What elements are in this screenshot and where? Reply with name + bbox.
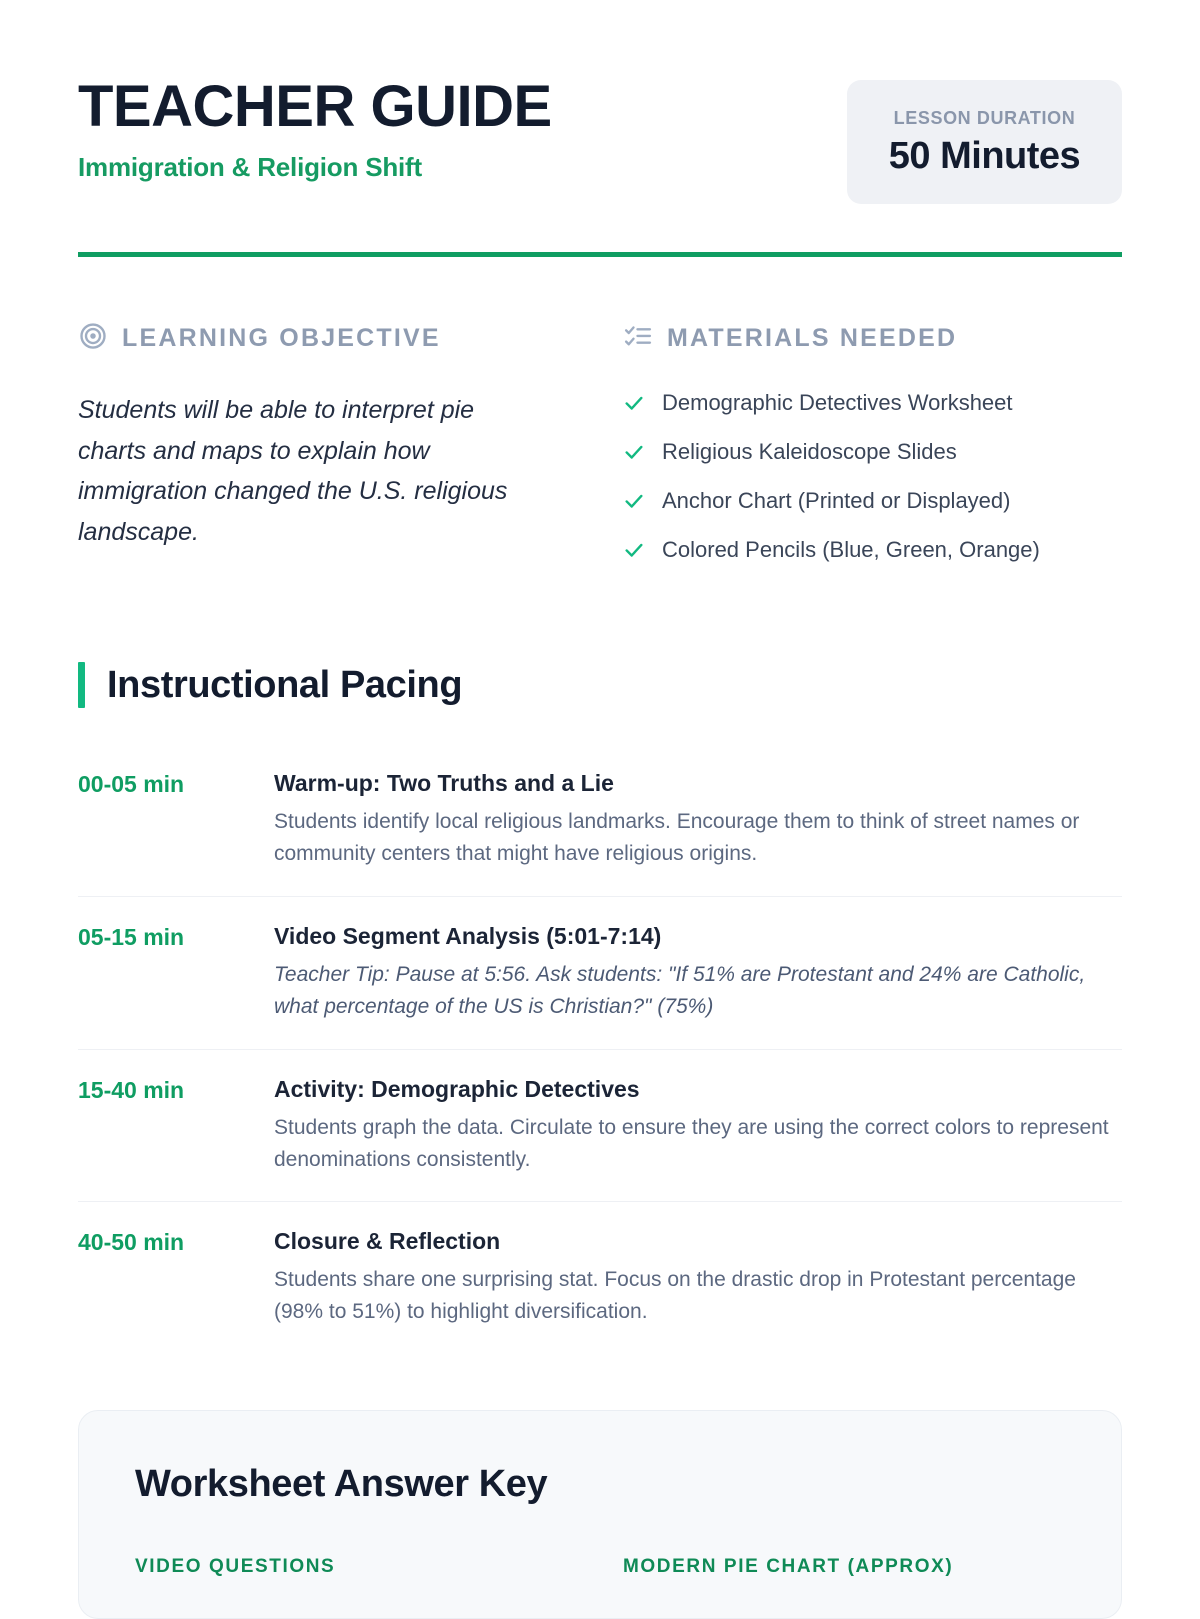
pacing-list: 00-05 min Warm-up: Two Truths and a Lie … [78, 744, 1122, 1354]
materials-header: MATERIALS NEEDED [623, 321, 1122, 356]
learning-objective-header: LEARNING OBJECTIVE [78, 321, 623, 356]
page-title: TEACHER GUIDE [78, 78, 552, 136]
pacing-title: Closure & Reflection [274, 1228, 1112, 1255]
check-icon [623, 539, 645, 561]
learning-objective-text: Students will be able to interpret pie c… [78, 390, 548, 552]
lesson-duration-badge: LESSON DURATION 50 Minutes [847, 80, 1122, 204]
check-icon [623, 441, 645, 463]
pacing-title: Warm-up: Two Truths and a Lie [274, 770, 1112, 797]
answer-key-pie-heading: MODERN PIE CHART (APPROX) [623, 1556, 1065, 1578]
page-subtitle: Immigration & Religion Shift [78, 152, 552, 183]
instructional-pacing-header: Instructional Pacing [78, 662, 1122, 708]
target-icon [78, 321, 108, 356]
material-label: Religious Kaleidoscope Slides [662, 439, 957, 465]
pacing-description: Students share one surprising stat. Focu… [274, 1264, 1112, 1328]
section-accent-bar [78, 662, 85, 708]
pacing-time: 40-50 min [78, 1228, 274, 1328]
header-divider [78, 252, 1122, 257]
duration-label: LESSON DURATION [869, 108, 1100, 129]
material-label: Colored Pencils (Blue, Green, Orange) [662, 537, 1040, 563]
check-icon [623, 392, 645, 414]
title-block: TEACHER GUIDE Immigration & Religion Shi… [78, 74, 552, 183]
table-row: 40-50 min Closure & Reflection Students … [78, 1202, 1122, 1354]
materials-section: MATERIALS NEEDED Demographic Detectives … [623, 321, 1122, 586]
answer-key-video-heading: VIDEO QUESTIONS [135, 1556, 623, 1578]
info-row: LEARNING OBJECTIVE Students will be able… [78, 321, 1122, 586]
pacing-title: Activity: Demographic Detectives [274, 1076, 1112, 1103]
pacing-description: Teacher Tip: Pause at 5:56. Ask students… [274, 959, 1112, 1023]
worksheet-answer-key-card: Worksheet Answer Key VIDEO QUESTIONS MOD… [78, 1410, 1122, 1619]
list-item: Colored Pencils (Blue, Green, Orange) [623, 537, 1122, 563]
answer-key-title: Worksheet Answer Key [135, 1463, 1065, 1506]
answer-key-column-video: VIDEO QUESTIONS [135, 1556, 623, 1578]
material-label: Anchor Chart (Printed or Displayed) [662, 488, 1010, 514]
pacing-body: Video Segment Analysis (5:01-7:14) Teach… [274, 923, 1122, 1023]
table-row: 05-15 min Video Segment Analysis (5:01-7… [78, 897, 1122, 1050]
learning-objective-section: LEARNING OBJECTIVE Students will be able… [78, 321, 623, 586]
answer-key-column-pie: MODERN PIE CHART (APPROX) [623, 1556, 1065, 1578]
list-item: Demographic Detectives Worksheet [623, 390, 1122, 416]
pacing-time: 00-05 min [78, 770, 274, 870]
pacing-body: Warm-up: Two Truths and a Lie Students i… [274, 770, 1122, 870]
pacing-time: 05-15 min [78, 923, 274, 1023]
check-icon [623, 490, 645, 512]
pacing-body: Activity: Demographic Detectives Student… [274, 1076, 1122, 1176]
instructional-pacing-heading: Instructional Pacing [107, 664, 462, 707]
page-header: TEACHER GUIDE Immigration & Religion Shi… [78, 0, 1122, 204]
table-row: 15-40 min Activity: Demographic Detectiv… [78, 1050, 1122, 1203]
learning-objective-heading: LEARNING OBJECTIVE [122, 324, 441, 353]
table-row: 00-05 min Warm-up: Two Truths and a Lie … [78, 744, 1122, 897]
list-item: Religious Kaleidoscope Slides [623, 439, 1122, 465]
answer-key-columns: VIDEO QUESTIONS MODERN PIE CHART (APPROX… [135, 1556, 1065, 1578]
list-item: Anchor Chart (Printed or Displayed) [623, 488, 1122, 514]
materials-heading: MATERIALS NEEDED [667, 324, 957, 353]
materials-list: Demographic Detectives Worksheet Religio… [623, 390, 1122, 563]
duration-value: 50 Minutes [869, 135, 1100, 178]
pacing-time: 15-40 min [78, 1076, 274, 1176]
pacing-description: Students identify local religious landma… [274, 806, 1112, 870]
material-label: Demographic Detectives Worksheet [662, 390, 1013, 416]
pacing-body: Closure & Reflection Students share one … [274, 1228, 1122, 1328]
checklist-icon [623, 321, 653, 356]
teacher-guide-page: TEACHER GUIDE Immigration & Religion Shi… [0, 0, 1200, 1600]
pacing-description: Students graph the data. Circulate to en… [274, 1112, 1112, 1176]
pacing-title: Video Segment Analysis (5:01-7:14) [274, 923, 1112, 950]
